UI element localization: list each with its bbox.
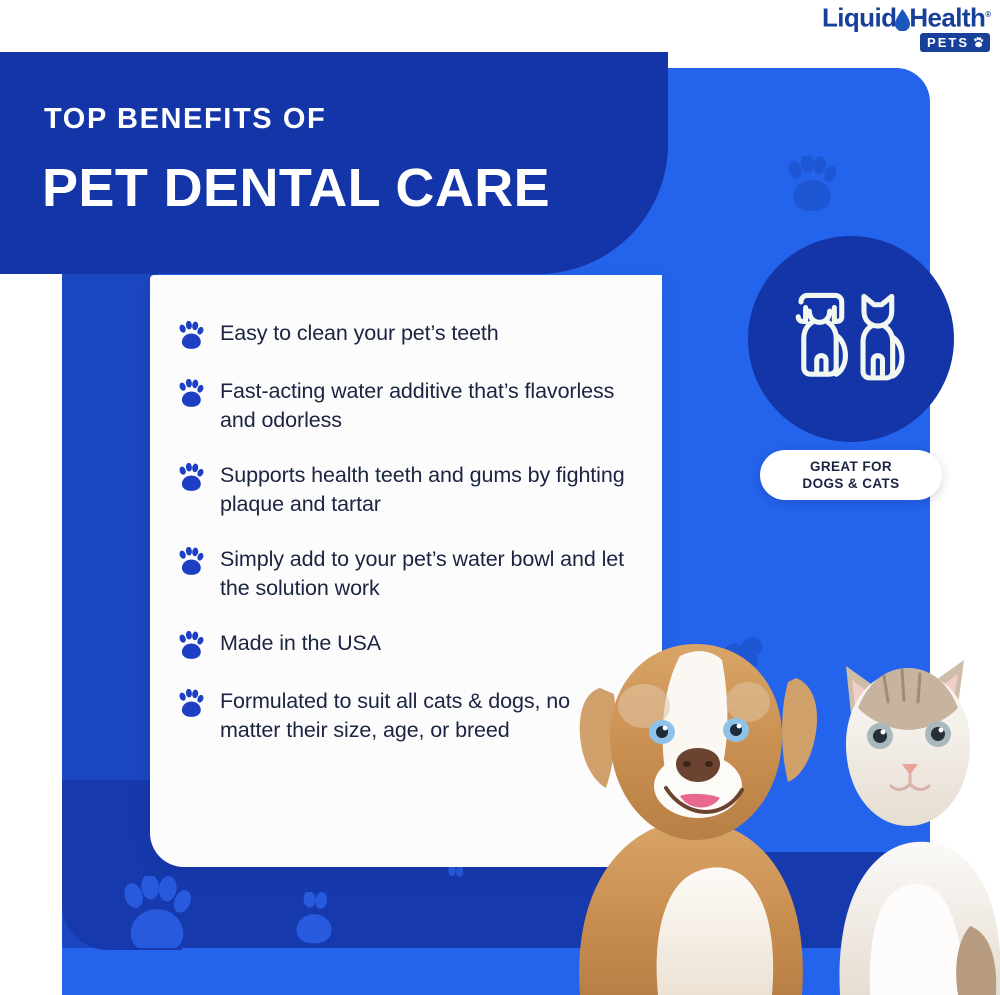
badge-line-1: GREAT FOR: [810, 458, 892, 475]
list-item-label: Easy to clean your pet’s teeth: [220, 319, 499, 348]
badge-line-2: DOGS & CATS: [802, 475, 899, 492]
paw-print-icon: [176, 631, 206, 661]
page-title: PET DENTAL CARE: [42, 156, 550, 220]
infographic-canvas: TOP BENEFITS OF PET DENTAL CARE Easy to …: [0, 0, 1000, 995]
paw-watermark-icon: [288, 892, 340, 948]
pets-sub-badge: PETS: [920, 33, 990, 52]
pets-label: PETS: [927, 35, 969, 50]
paw-watermark-icon: [784, 156, 840, 216]
paw-print-icon: [176, 689, 206, 719]
brand-name-part1: Liquid: [822, 3, 896, 33]
brand-logo[interactable]: LiquidHealth® PETS: [822, 2, 990, 48]
list-item: Easy to clean your pet’s teeth: [176, 319, 636, 351]
header-banner: TOP BENEFITS OF PET DENTAL CARE: [0, 52, 668, 274]
list-item: Fast-acting water additive that’s flavor…: [176, 377, 636, 435]
brand-name-part2: Health: [909, 3, 985, 33]
list-item-label: Simply add to your pet’s water bowl and …: [220, 545, 636, 603]
pets-photo: [540, 636, 1000, 995]
status-badge: GREAT FOR DOGS & CATS: [760, 450, 942, 500]
cat-illustration: [839, 660, 1000, 995]
paw-print-icon: [176, 463, 206, 493]
header-eyebrow: TOP BENEFITS OF: [44, 102, 326, 136]
pets-photo-illustration: [540, 636, 1000, 995]
trademark-symbol: ®: [985, 10, 990, 19]
paw-watermark-icon: [438, 866, 472, 902]
list-item-label: Supports health teeth and gums by fighti…: [220, 461, 636, 519]
paw-watermark-icon: [118, 876, 196, 948]
brand-wordmark: LiquidHealth®: [822, 2, 990, 31]
dog-illustration: [579, 644, 817, 995]
list-item-label: Made in the USA: [220, 629, 381, 658]
paw-print-icon: [176, 321, 206, 351]
paw-print-icon: [176, 379, 206, 409]
list-item: Simply add to your pet’s water bowl and …: [176, 545, 636, 603]
dog-and-cat-icon-badge: [748, 236, 954, 442]
list-item-label: Fast-acting water additive that’s flavor…: [220, 377, 636, 435]
paw-print-icon: [176, 547, 206, 577]
dog-and-cat-silhouette-icon: [786, 289, 916, 389]
list-item: Supports health teeth and gums by fighti…: [176, 461, 636, 519]
paw-icon: [973, 37, 984, 48]
water-droplet-icon: [895, 9, 910, 31]
